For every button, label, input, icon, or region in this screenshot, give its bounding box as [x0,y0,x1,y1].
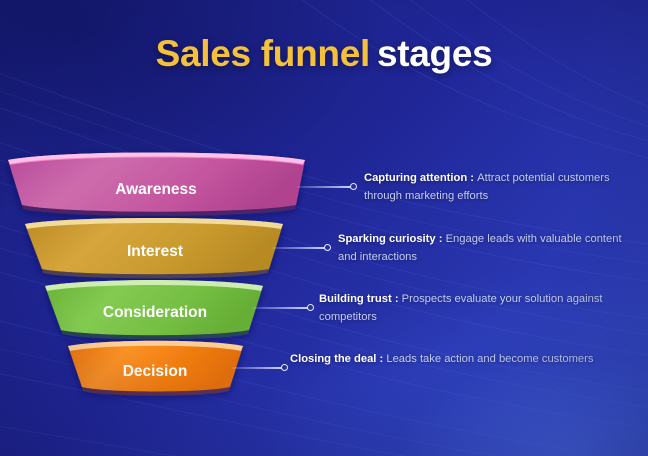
callout-interest: Sparking curiosity : Engage leads with v… [338,230,638,266]
callout-separator: : [392,293,402,305]
page-title-rest: stages [377,33,492,74]
page-title: Sales funnelstages [0,33,648,75]
callout-heading: Sparking curiosity [338,233,436,245]
callout-decision: Closing the deal : Leads take action and… [290,350,598,368]
callout-separator: : [467,172,477,184]
callout-separator: : [376,353,386,365]
callout-heading: Capturing attention [364,172,467,184]
slide-canvas: Sales funnelstages [0,0,648,456]
callout-separator: : [436,233,446,245]
callout-awareness: Capturing attention : Attract potential … [364,169,642,205]
callout-body: Leads take action and become customers [386,353,593,365]
callout-consideration: Building trust : Prospects evaluate your… [319,290,621,326]
page-title-highlight: Sales funnel [156,33,370,74]
callout-heading: Closing the deal [290,353,376,365]
callout-heading: Building trust [319,293,392,305]
